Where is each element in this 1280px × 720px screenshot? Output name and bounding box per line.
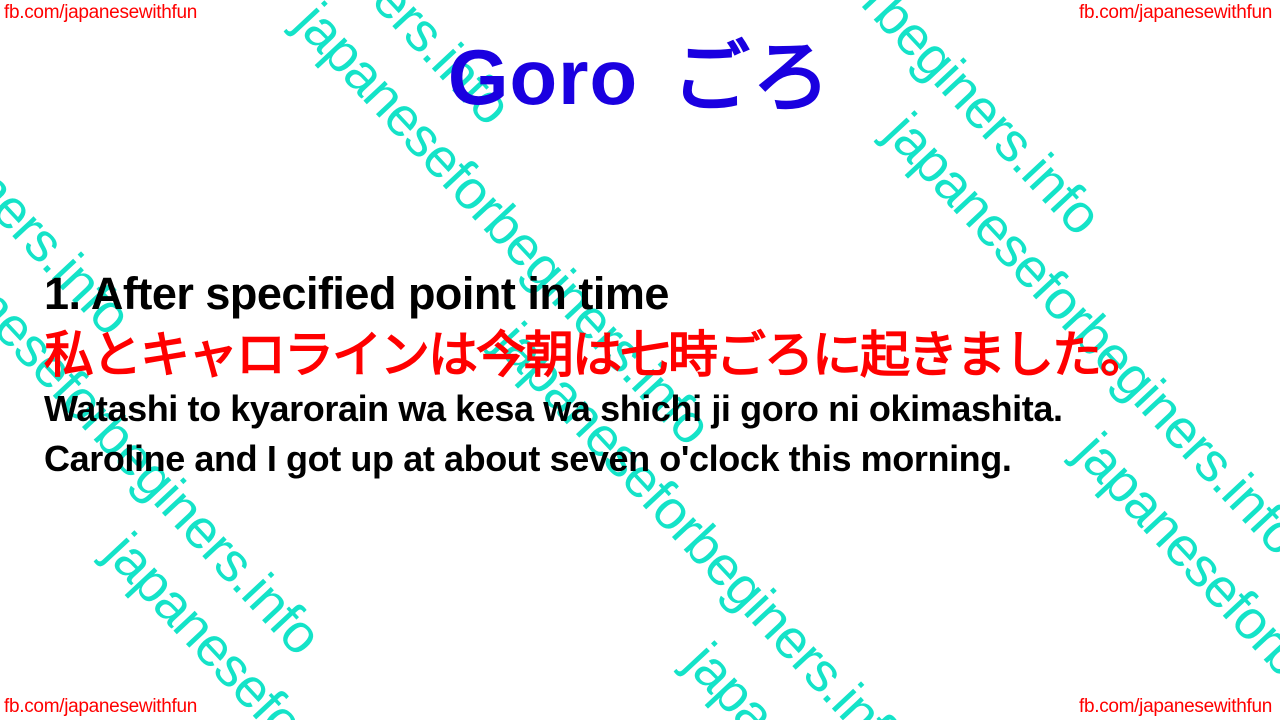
slide-canvas: japaneseforbeginers.infojapaneseforbegin… <box>0 0 1280 720</box>
diagonal-watermark-layer: japaneseforbeginers.infojapaneseforbegin… <box>0 0 1280 720</box>
example-english: Caroline and I got up at about seven o'c… <box>44 436 1280 482</box>
page-title: Goroごろ <box>0 36 1280 118</box>
diagonal-watermark: japaneseforbeginers.info <box>483 310 924 720</box>
diagonal-watermark: japaneseforbeginers.info <box>873 100 1280 567</box>
corner-watermark-top-left: fb.com/japanesewithfun <box>4 2 197 24</box>
lesson-block: 1. After specified point in time 私とキャロライ… <box>44 266 1280 482</box>
diagonal-watermark: japaneseforbeginers.info <box>0 200 334 667</box>
title-kana: ごろ <box>672 33 832 121</box>
corner-watermark-bottom-right: fb.com/japanesewithfun <box>1079 696 1272 718</box>
diagonal-watermark: japaneseforbeginers.info <box>93 520 534 720</box>
diagonal-watermark: japaneseforbeginers.info <box>673 0 1114 247</box>
diagonal-watermark: japaneseforbeginers.info <box>283 0 724 457</box>
lesson-heading: 1. After specified point in time <box>44 266 1280 322</box>
diagonal-watermark: japaneseforbeginers.info <box>1063 420 1280 720</box>
example-japanese: 私とキャロラインは今朝は七時ごろに起きました。 <box>44 324 1280 386</box>
example-romaji: Watashi to kyarorain wa kesa wa shichi j… <box>44 386 1280 432</box>
corner-watermark-bottom-left: fb.com/japanesewithfun <box>4 696 197 718</box>
diagonal-watermark: japaneseforbeginers.info <box>673 630 1114 720</box>
title-romaji: Goro <box>448 33 638 121</box>
slide-content: fb.com/japanesewithfun fb.com/japanesewi… <box>0 0 1280 720</box>
corner-watermark-top-right: fb.com/japanesewithfun <box>1079 2 1272 24</box>
diagonal-watermark: japaneseforbeginers.info <box>0 0 144 347</box>
